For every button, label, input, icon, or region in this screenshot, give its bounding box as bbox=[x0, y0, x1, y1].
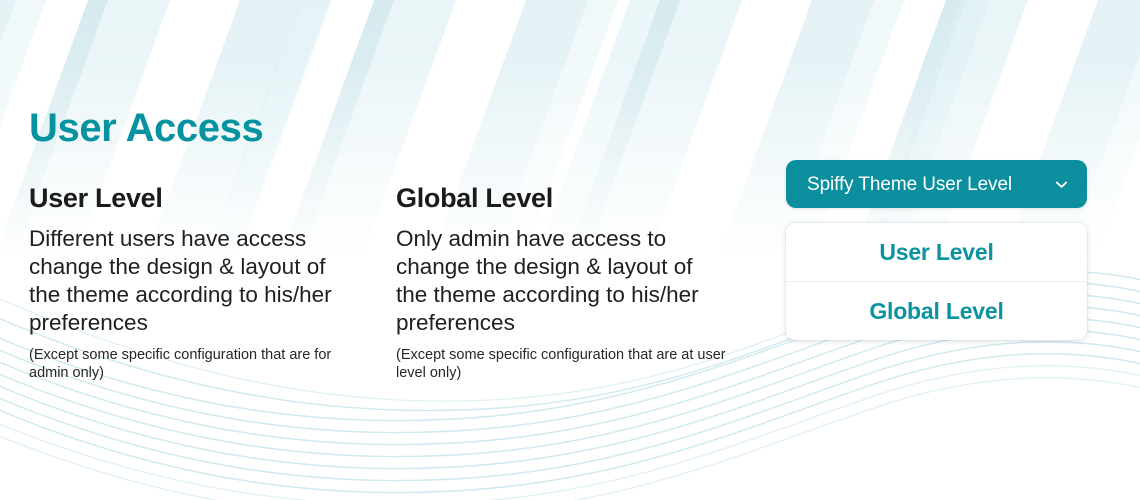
dropdown-menu: User Level Global Level bbox=[786, 223, 1087, 340]
column-heading: Global Level bbox=[396, 183, 741, 214]
page-title: User Access bbox=[29, 106, 263, 150]
dropdown-option-user-level[interactable]: User Level bbox=[786, 223, 1087, 281]
theme-level-dropdown: Spiffy Theme User Level User Level Globa… bbox=[786, 160, 1087, 340]
column-global-level: Global Level Only admin have access to c… bbox=[396, 183, 741, 382]
column-heading: User Level bbox=[29, 183, 374, 214]
column-note-text: (Except some specific configuration that… bbox=[29, 346, 359, 382]
column-note-text: (Except some specific configuration that… bbox=[396, 346, 726, 382]
column-body-text: Different users have access change the d… bbox=[29, 225, 349, 337]
dropdown-toggle-button[interactable]: Spiffy Theme User Level bbox=[786, 160, 1087, 208]
column-user-level: User Level Different users have access c… bbox=[29, 183, 374, 382]
dropdown-selected-label: Spiffy Theme User Level bbox=[807, 175, 1054, 194]
column-body-text: Only admin have access to change the des… bbox=[396, 225, 716, 337]
slide-canvas: User Access User Level Different users h… bbox=[0, 0, 1140, 500]
dropdown-option-global-level[interactable]: Global Level bbox=[786, 281, 1087, 340]
chevron-down-icon bbox=[1054, 177, 1069, 192]
